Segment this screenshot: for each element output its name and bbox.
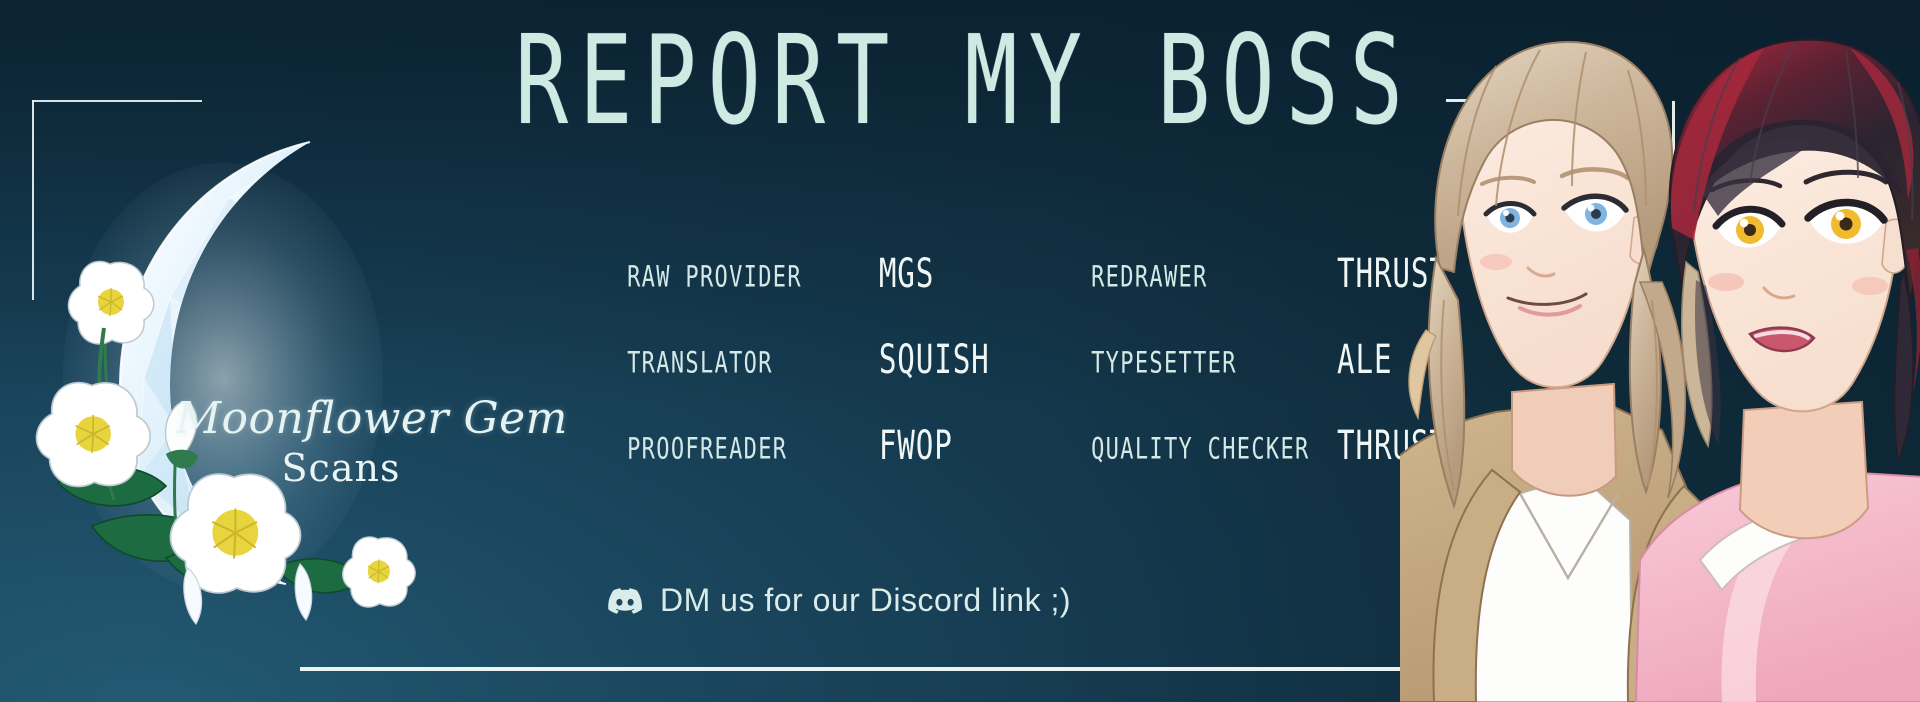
character-illustration [1400, 0, 1920, 702]
discord-invite-row[interactable]: DM us for our Discord link ;) [608, 582, 1071, 619]
discord-icon [608, 588, 642, 614]
credit-value-raw-provider: MGS [879, 250, 1061, 297]
credits-grid: RAW PROVIDER MGS REDRAWER THRUST TRANSLA… [612, 254, 1457, 466]
credit-value-proofreader: FWOP [879, 422, 1061, 469]
moonflower-2 [36, 383, 150, 487]
credit-label-raw-provider: RAW PROVIDER [627, 260, 849, 294]
credit-label-translator: TRANSLATOR [627, 346, 849, 380]
credit-value-translator: SQUISH [879, 336, 1061, 383]
discord-invite-text: DM us for our Discord link ;) [660, 582, 1071, 619]
frame-bracket-left-vertical [32, 100, 34, 300]
moonflower-4 [343, 537, 416, 607]
page-title: REPORT MY BOSS [515, 14, 1414, 147]
credit-label-quality-checker: QUALITY CHECKER [1091, 432, 1313, 466]
moonflower-gem-scans-logo: Moonflower Gem Scans [48, 128, 518, 588]
credit-label-redrawer: REDRAWER [1091, 260, 1313, 294]
credit-label-typesetter: TYPESETTER [1091, 346, 1313, 380]
credit-label-proofreader: PROOFREADER [627, 432, 849, 466]
frame-bracket-left-top [32, 100, 202, 102]
report-my-boss-credits-banner: REPORT MY BOSS [0, 0, 1920, 702]
